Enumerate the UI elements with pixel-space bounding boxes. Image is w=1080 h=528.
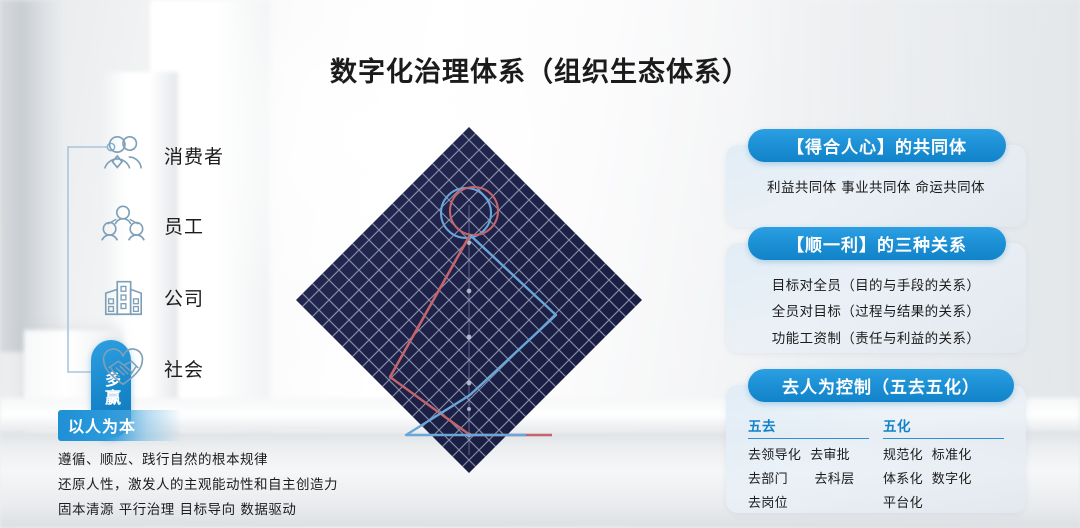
- panel-community: 【得合人心】的共同体 利益共同体 事业共同体 命运共同体: [726, 145, 1026, 227]
- stakeholder-item-employees[interactable]: 员工: [100, 202, 204, 248]
- panel-line: 利益共同体 事业共同体 命运共同体: [726, 175, 1026, 201]
- stakeholder-label: 消费者: [164, 142, 224, 169]
- panel-relations-body: 目标对全员（目的与手段的关系） 全员对目标（过程与结果的关系） 功能工资制（责任…: [726, 273, 1026, 352]
- panel-line: 全员对目标（过程与结果的关系）: [726, 299, 1026, 325]
- handshake-society-icon: [100, 345, 146, 391]
- diamond-grid-svg: [294, 125, 644, 475]
- page-title: 数字化治理体系（组织生态体系）: [0, 50, 1080, 89]
- column-row: 平台化: [883, 492, 1004, 516]
- column-row: 去部门 去科层: [748, 468, 869, 492]
- stakeholder-item-consumers[interactable]: 消费者: [100, 132, 224, 178]
- slide-canvas: 数字化治理体系（组织生态体系） 多赢 消费者: [0, 0, 1080, 528]
- column-row: 规范化 标准化: [883, 444, 1004, 468]
- panel-dehumanized-control: 去人为控制（五去五化） 五去 去领导化 去审批 去部门 去科层 去岗位 五化 规…: [726, 385, 1026, 513]
- employees-icon: [100, 202, 146, 248]
- panel-line: 目标对全员（目的与手段的关系）: [726, 273, 1026, 299]
- stakeholder-item-company[interactable]: 公司: [100, 274, 204, 320]
- panel-community-heading: 【得合人心】的共同体: [748, 129, 1006, 162]
- column-header: 五化: [883, 415, 1004, 439]
- company-building-icon: [100, 274, 146, 320]
- stakeholder-label: 公司: [164, 284, 204, 311]
- consumers-icon: [100, 132, 146, 178]
- column-row: 去领导化 去审批: [748, 444, 869, 468]
- stakeholder-label: 员工: [164, 212, 204, 239]
- panel-relations: 【顺一利】的三种关系 目标对全员（目的与手段的关系） 全员对目标（过程与结果的关…: [726, 243, 1026, 353]
- panel-dehumanized-control-heading: 去人为控制（五去五化）: [748, 369, 1014, 402]
- column-five-removals: 五去 去领导化 去审批 去部门 去科层 去岗位: [748, 415, 869, 516]
- panel-dehumanized-control-columns: 五去 去领导化 去审批 去部门 去科层 去岗位 五化 规范化 标准化 体系化 数…: [726, 415, 1026, 516]
- panel-relations-heading: 【顺一利】的三种关系: [748, 227, 1006, 260]
- stakeholder-label: 社会: [164, 355, 204, 382]
- column-row: 去岗位: [748, 492, 869, 516]
- people-first-line: 还原人性，激发人的主观能动性和自主创造力: [58, 473, 388, 498]
- stakeholder-item-society[interactable]: 社会: [100, 345, 204, 391]
- column-header: 五去: [748, 415, 869, 439]
- column-row: 体系化 数字化: [883, 468, 1004, 492]
- people-first-heading: 以人为本: [58, 410, 182, 441]
- column-five-izations: 五化 规范化 标准化 体系化 数字化 平台化: [883, 415, 1004, 516]
- digital-governance-diamond: [294, 125, 644, 475]
- people-first-line: 固本清源 平行治理 目标导向 数据驱动: [58, 498, 388, 523]
- panel-community-body: 利益共同体 事业共同体 命运共同体: [726, 175, 1026, 201]
- panel-line: 功能工资制（责任与利益的关系）: [726, 326, 1026, 352]
